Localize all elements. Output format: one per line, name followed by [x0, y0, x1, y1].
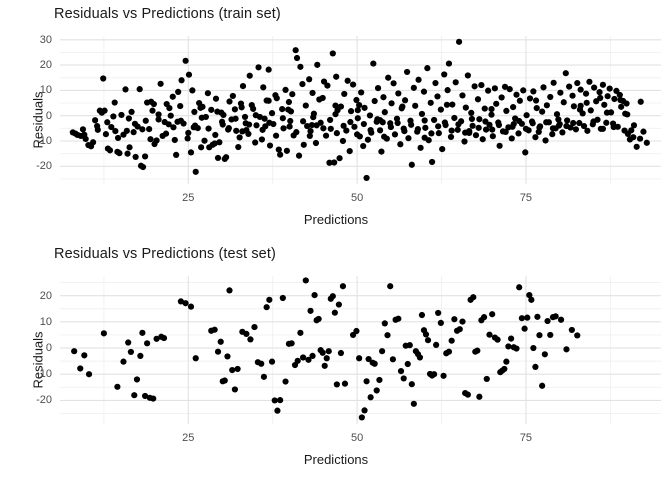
data-point — [81, 352, 87, 358]
data-point — [637, 136, 643, 142]
data-point — [336, 301, 342, 307]
data-point — [233, 128, 239, 134]
y-tick-label: -20 — [12, 394, 52, 406]
data-point — [542, 351, 548, 357]
data-point — [247, 73, 253, 79]
data-point — [293, 47, 299, 53]
x-tick-label: 75 — [520, 432, 532, 444]
data-point — [356, 355, 362, 361]
data-point — [405, 135, 411, 141]
data-point — [149, 108, 155, 114]
data-point — [345, 78, 351, 84]
data-point — [170, 94, 176, 100]
data-point — [216, 139, 222, 145]
data-point — [205, 125, 211, 131]
y-tick-label: 20 — [12, 290, 52, 302]
data-point — [431, 117, 437, 123]
data-point — [235, 144, 241, 150]
plot-canvas — [60, 276, 661, 424]
data-point — [543, 119, 549, 125]
data-point — [274, 408, 280, 414]
data-point — [301, 142, 307, 148]
data-point — [449, 128, 455, 134]
data-point — [183, 58, 189, 64]
data-point — [332, 102, 338, 108]
data-point — [107, 147, 113, 153]
data-point — [528, 297, 534, 303]
data-point — [523, 126, 529, 132]
data-point — [476, 394, 482, 400]
data-point — [451, 316, 457, 322]
data-point — [382, 109, 388, 115]
facet-train: Residuals vs Predictions (train set) Res… — [0, 0, 672, 240]
data-point — [286, 99, 292, 105]
data-point — [390, 80, 396, 86]
data-point — [486, 332, 492, 338]
data-point — [296, 153, 302, 159]
data-point — [81, 132, 87, 138]
data-point — [372, 98, 378, 104]
data-point — [128, 109, 134, 115]
data-point — [532, 134, 538, 140]
data-point — [139, 126, 145, 132]
data-point — [433, 342, 439, 348]
data-point — [455, 121, 461, 127]
data-point — [376, 377, 382, 383]
data-point — [521, 326, 527, 332]
data-point — [299, 81, 305, 87]
data-point — [388, 100, 394, 106]
data-point — [401, 375, 407, 381]
data-point — [503, 359, 509, 365]
data-point — [569, 327, 575, 333]
data-point — [439, 146, 445, 152]
data-point — [638, 99, 644, 105]
data-point — [140, 164, 146, 170]
data-point — [534, 314, 540, 320]
data-point — [300, 118, 306, 124]
data-point — [280, 115, 286, 121]
data-point — [365, 137, 371, 143]
data-point — [497, 143, 503, 149]
data-point — [435, 123, 441, 129]
data-point — [380, 119, 386, 125]
data-point — [530, 120, 536, 126]
data-point — [232, 386, 238, 392]
data-point — [330, 50, 336, 56]
data-point — [262, 116, 268, 122]
data-point — [463, 105, 469, 111]
data-point — [472, 83, 478, 89]
data-point — [379, 348, 385, 354]
data-point — [554, 111, 560, 117]
data-point — [547, 94, 553, 100]
data-point — [322, 363, 328, 369]
data-point — [622, 111, 628, 117]
data-point — [185, 130, 191, 136]
data-point — [274, 95, 280, 101]
data-point — [476, 116, 482, 122]
data-point — [198, 144, 204, 150]
data-point — [564, 117, 570, 123]
facet-test: Residuals vs Predictions (test set) Resi… — [0, 240, 672, 480]
data-point — [158, 81, 164, 87]
data-point — [522, 149, 528, 155]
data-point — [511, 121, 517, 127]
data-point — [266, 297, 272, 303]
data-point — [311, 292, 317, 298]
data-point — [178, 77, 184, 83]
chart-page: Residuals vs Predictions (train set) Res… — [0, 0, 672, 480]
data-point — [473, 132, 479, 138]
data-point — [634, 144, 640, 150]
data-point — [267, 142, 273, 148]
data-point — [489, 127, 495, 133]
data-point — [409, 381, 415, 387]
data-point — [456, 39, 462, 45]
data-point — [431, 371, 437, 377]
data-point — [457, 326, 463, 332]
data-point — [186, 72, 192, 78]
data-point — [368, 394, 374, 400]
data-point — [116, 150, 122, 156]
data-point — [611, 124, 617, 130]
data-point — [334, 381, 340, 387]
data-point — [284, 148, 290, 154]
data-point — [239, 128, 245, 134]
data-point — [588, 107, 594, 113]
data-point — [361, 105, 367, 111]
data-point — [193, 169, 199, 175]
data-point — [264, 304, 270, 310]
data-point — [193, 355, 199, 361]
data-point — [114, 384, 120, 390]
data-point — [584, 128, 590, 134]
data-point — [392, 131, 398, 137]
data-point — [449, 338, 455, 344]
data-point — [132, 121, 138, 127]
y-tick-label: 10 — [12, 84, 52, 96]
data-point — [259, 136, 265, 142]
data-point — [482, 118, 488, 124]
data-point — [382, 320, 388, 326]
data-point — [453, 79, 459, 85]
data-point — [342, 381, 348, 387]
data-point — [428, 100, 434, 106]
data-point — [341, 91, 347, 97]
data-point — [359, 414, 365, 420]
data-point — [260, 84, 266, 90]
data-point — [153, 137, 159, 143]
data-point — [536, 332, 542, 338]
data-point — [544, 318, 550, 324]
data-point — [324, 82, 330, 88]
data-point — [269, 359, 275, 365]
data-point — [390, 356, 396, 362]
data-point — [212, 327, 218, 333]
data-point — [166, 105, 172, 111]
data-point — [446, 349, 452, 355]
data-point — [395, 120, 401, 126]
x-tick-label: 25 — [182, 192, 194, 204]
data-point — [144, 340, 150, 346]
data-point — [438, 107, 444, 113]
data-point — [395, 90, 401, 96]
data-point — [118, 112, 124, 118]
data-point — [476, 125, 482, 131]
y-tick-label: -10 — [12, 368, 52, 380]
data-point — [279, 106, 285, 112]
data-point — [170, 124, 176, 130]
data-point — [444, 102, 450, 108]
data-point — [226, 287, 232, 293]
data-point — [223, 154, 229, 160]
data-point — [530, 88, 536, 94]
data-point — [363, 378, 369, 384]
data-point — [235, 366, 241, 372]
data-point — [411, 401, 417, 407]
data-point — [557, 90, 563, 96]
data-point — [605, 93, 611, 99]
data-point — [398, 368, 404, 374]
data-point — [323, 133, 329, 139]
data-point — [415, 77, 421, 83]
data-point — [527, 95, 533, 101]
data-point — [434, 93, 440, 99]
data-point — [640, 129, 646, 135]
data-point — [289, 91, 295, 97]
data-point — [191, 109, 197, 115]
data-point — [272, 397, 278, 403]
data-point — [370, 60, 376, 66]
data-point — [501, 366, 507, 372]
data-point — [381, 134, 387, 140]
data-point — [324, 355, 330, 361]
data-point — [384, 332, 390, 338]
data-point — [591, 85, 597, 91]
data-point — [243, 120, 249, 126]
data-point — [499, 94, 505, 100]
data-point — [280, 125, 286, 131]
data-point — [188, 304, 194, 310]
data-point — [220, 112, 226, 118]
data-point — [611, 96, 617, 102]
data-point — [360, 143, 366, 149]
data-point — [418, 145, 424, 151]
data-point — [347, 119, 353, 125]
data-point — [101, 330, 107, 336]
data-point — [519, 315, 525, 321]
data-point — [188, 149, 194, 155]
data-point — [251, 324, 257, 330]
data-point — [229, 367, 235, 373]
data-point — [226, 125, 232, 131]
data-point — [86, 371, 92, 377]
data-point — [475, 96, 481, 102]
data-point — [354, 131, 360, 137]
data-point — [489, 311, 495, 317]
data-point — [124, 128, 130, 134]
data-point — [424, 65, 430, 71]
data-point — [361, 407, 367, 413]
data-point — [494, 337, 500, 343]
data-point — [539, 383, 545, 389]
data-point — [549, 131, 555, 137]
data-point — [316, 316, 322, 322]
data-point — [510, 104, 516, 110]
train-x-axis-title: Predictions — [0, 212, 672, 227]
data-point — [540, 84, 546, 90]
data-point — [397, 141, 403, 147]
data-point — [307, 308, 313, 314]
data-point — [423, 331, 429, 337]
data-point — [604, 110, 610, 116]
data-point — [92, 117, 98, 123]
data-point — [124, 151, 130, 157]
data-point — [442, 119, 448, 125]
data-point — [306, 76, 312, 82]
data-point — [287, 118, 293, 124]
data-point — [578, 87, 584, 93]
data-point — [583, 91, 589, 97]
data-point — [245, 131, 251, 137]
data-point — [429, 159, 435, 165]
data-point — [484, 376, 490, 382]
data-point — [432, 80, 438, 86]
data-point — [287, 123, 293, 129]
data-point — [142, 153, 148, 159]
data-point — [600, 126, 606, 132]
data-point — [569, 93, 575, 99]
data-point — [428, 130, 434, 136]
data-point — [120, 359, 126, 365]
data-point — [333, 74, 339, 80]
data-point — [143, 118, 149, 124]
data-point — [285, 107, 291, 113]
data-point — [115, 135, 121, 141]
data-point — [503, 108, 509, 114]
data-point — [350, 81, 356, 87]
data-point — [150, 395, 156, 401]
data-point — [242, 114, 248, 120]
data-point — [303, 277, 309, 283]
data-point — [570, 120, 576, 126]
data-point — [90, 139, 96, 145]
data-point — [558, 317, 564, 323]
data-point — [387, 283, 393, 289]
data-point — [470, 123, 476, 129]
data-point — [237, 134, 243, 140]
data-point — [295, 358, 301, 364]
data-point — [77, 365, 83, 371]
data-point — [600, 82, 606, 88]
data-point — [378, 149, 384, 155]
data-point — [459, 92, 465, 98]
data-point — [266, 120, 272, 126]
data-point — [488, 106, 494, 112]
data-point — [407, 342, 413, 348]
data-point — [243, 331, 249, 337]
data-point — [104, 119, 110, 125]
data-point — [332, 111, 338, 117]
data-point — [197, 105, 203, 111]
data-point — [94, 123, 100, 129]
x-tick-label: 25 — [182, 432, 194, 444]
train-plot-panel — [60, 36, 661, 184]
data-point — [131, 392, 137, 398]
data-point — [601, 102, 607, 108]
data-point — [536, 124, 542, 130]
data-point — [294, 55, 300, 61]
data-point — [131, 129, 137, 135]
data-point — [451, 115, 457, 121]
data-point — [309, 90, 315, 96]
data-point — [126, 115, 132, 121]
data-point — [330, 293, 336, 299]
data-point — [303, 102, 309, 108]
data-point — [404, 69, 410, 75]
data-point — [351, 124, 357, 130]
data-point — [513, 92, 519, 98]
data-point — [480, 136, 486, 142]
data-point — [309, 353, 315, 359]
data-point — [259, 127, 265, 133]
data-point — [481, 314, 487, 320]
x-tick-label: 50 — [351, 432, 363, 444]
data-point — [508, 336, 514, 342]
data-point — [617, 97, 623, 103]
data-point — [201, 138, 207, 144]
data-point — [139, 330, 145, 336]
data-point — [367, 112, 373, 118]
data-point — [213, 96, 219, 102]
data-point — [255, 64, 261, 70]
data-point — [422, 117, 428, 123]
data-point — [215, 155, 221, 161]
data-point — [465, 72, 471, 78]
data-point — [459, 318, 465, 324]
data-point — [208, 107, 214, 113]
data-point — [470, 294, 476, 300]
data-point — [422, 125, 428, 131]
data-point — [163, 131, 169, 137]
data-point — [314, 62, 320, 68]
data-point — [374, 387, 380, 393]
data-point — [618, 104, 624, 110]
data-point — [110, 113, 116, 119]
data-point — [584, 100, 590, 106]
data-point — [232, 106, 238, 112]
data-point — [326, 348, 332, 354]
data-point — [332, 310, 338, 316]
data-point — [469, 116, 475, 122]
data-point — [547, 332, 553, 338]
data-point — [449, 101, 455, 107]
data-point — [425, 337, 431, 343]
data-point — [574, 80, 580, 86]
data-point — [168, 113, 174, 119]
data-point — [503, 129, 509, 135]
data-point — [226, 98, 232, 104]
data-point — [440, 373, 446, 379]
data-point — [509, 135, 515, 141]
data-point — [515, 130, 521, 136]
data-point — [219, 119, 225, 125]
data-point — [214, 109, 220, 115]
data-point — [563, 346, 569, 352]
data-point — [520, 87, 526, 93]
data-point — [282, 87, 288, 93]
